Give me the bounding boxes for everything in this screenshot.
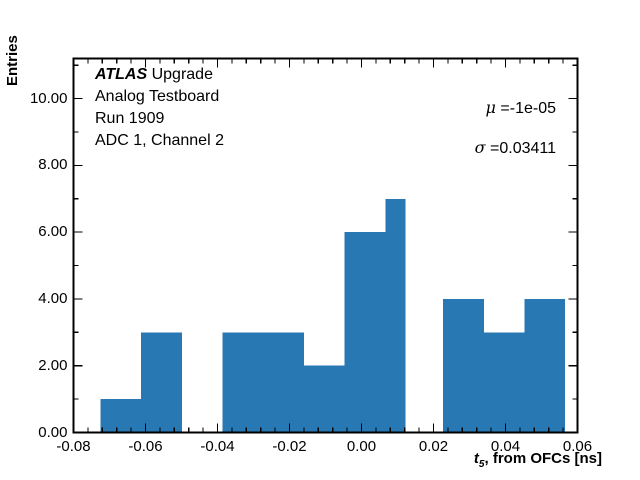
annotation-line-testboard: Analog Testboard bbox=[95, 86, 224, 108]
atlas-suffix-label: Upgrade bbox=[147, 66, 213, 83]
annotation-block: ATLAS Upgrade Analog Testboard Run 1909 … bbox=[95, 64, 224, 152]
histogram-bar bbox=[525, 299, 565, 433]
histogram-bar bbox=[101, 399, 142, 432]
x-tick-label: 0.06 bbox=[538, 438, 618, 455]
annotation-line-run: Run 1909 bbox=[95, 108, 224, 130]
y-tick-label: 4.00 bbox=[6, 290, 68, 307]
annotation-line-atlas: ATLAS Upgrade bbox=[95, 64, 224, 86]
histogram-bar bbox=[141, 332, 182, 432]
stat-sigma: σ =0.03411 bbox=[475, 138, 556, 158]
mu-equals: = bbox=[496, 100, 510, 117]
histogram-bar bbox=[304, 366, 345, 433]
histogram-bar bbox=[484, 332, 525, 432]
y-tick-label: 10.00 bbox=[6, 90, 68, 107]
x-tick-label: 0.00 bbox=[322, 438, 402, 455]
y-tick-label: 2.00 bbox=[6, 357, 68, 374]
histogram-bar bbox=[263, 332, 304, 432]
sigma-symbol: σ bbox=[475, 138, 486, 157]
x-tick-label: -0.08 bbox=[34, 438, 114, 455]
x-tick-label: -0.04 bbox=[178, 438, 258, 455]
histogram-bar bbox=[345, 232, 386, 432]
histogram-bar bbox=[385, 199, 405, 433]
sigma-equals: = bbox=[486, 140, 500, 157]
x-tick-label: 0.02 bbox=[394, 438, 474, 455]
histogram-bar bbox=[443, 299, 484, 433]
x-tick-label: 0.04 bbox=[466, 438, 546, 455]
y-axis-title: Entries bbox=[4, 0, 21, 86]
stat-mean: μ =-1e-05 bbox=[486, 98, 556, 118]
y-tick-label: 6.00 bbox=[6, 223, 68, 240]
mu-symbol: μ bbox=[486, 98, 496, 117]
x-tick-label: -0.06 bbox=[106, 438, 186, 455]
y-tick-label: 8.00 bbox=[6, 156, 68, 173]
x-tick-label: -0.02 bbox=[250, 438, 330, 455]
annotation-line-channel: ADC 1, Channel 2 bbox=[95, 130, 224, 152]
mu-value: -1e-05 bbox=[510, 100, 556, 117]
sigma-value: 0.03411 bbox=[499, 140, 556, 157]
atlas-label: ATLAS bbox=[95, 66, 147, 83]
histogram-bar bbox=[223, 332, 264, 432]
